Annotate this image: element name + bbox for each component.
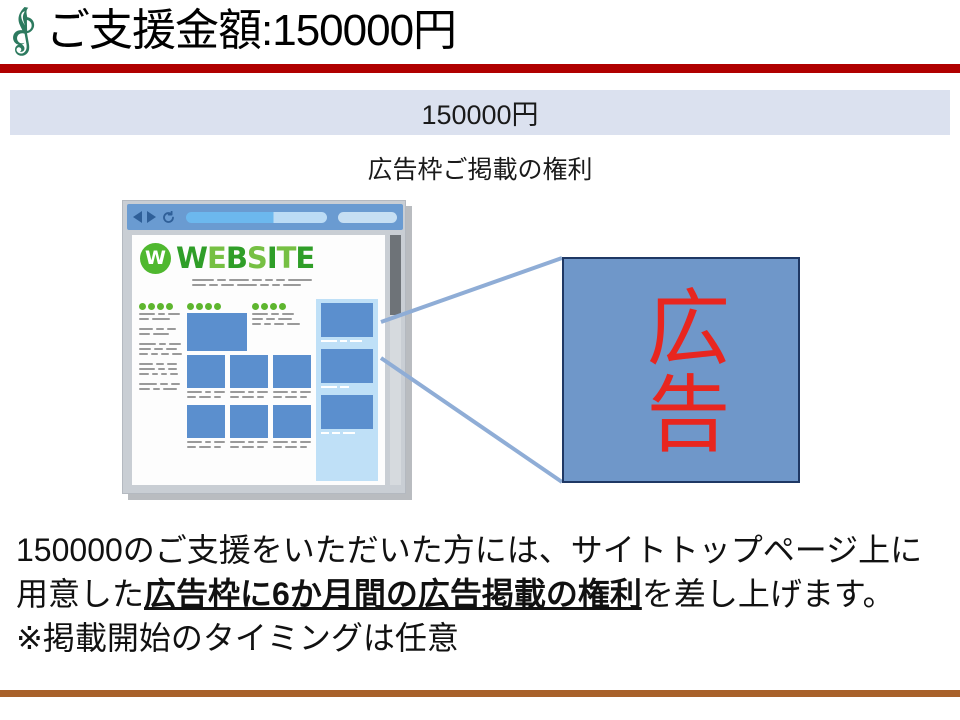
back-arrow-icon xyxy=(133,211,142,223)
thumbnail-grid-row xyxy=(187,355,311,401)
chip-row xyxy=(139,303,182,310)
page-main-column xyxy=(187,299,311,481)
site-logo-mark: W xyxy=(140,243,171,274)
page-left-text-column xyxy=(139,299,182,481)
treble-clef-icon xyxy=(0,0,46,62)
line2-suffix: を差し上げます。 xyxy=(642,576,895,612)
page-title: ご支援金額:150000円 xyxy=(46,9,456,53)
title-divider-rule xyxy=(0,64,960,73)
footer-divider-rule xyxy=(0,690,960,697)
content-thumbnail xyxy=(230,405,268,438)
content-thumbnail xyxy=(187,313,247,351)
ad-slot-2[interactable] xyxy=(321,349,373,383)
content-thumbnail xyxy=(273,355,311,388)
browser-toolbar xyxy=(127,204,403,230)
site-ad-sidebar xyxy=(316,299,378,481)
ad-slot-1[interactable] xyxy=(321,303,373,337)
line2-emphasis: 広告枠に6か月間の広告掲載の権利 xyxy=(144,576,642,612)
site-logo-text: WEBSITE xyxy=(176,241,314,275)
website-page-content: W WEBSITE xyxy=(132,235,385,485)
slide-header: ご支援金額:150000円 xyxy=(0,0,960,62)
scrollbar-thumb[interactable] xyxy=(390,235,401,315)
slide-canvas: ご支援金額:150000円 150000円 広告枠ご掲載の権利 xyxy=(0,0,960,720)
thumbnail-grid-row xyxy=(187,405,311,451)
reload-icon xyxy=(162,211,175,224)
amount-band-label: 150000円 xyxy=(421,93,538,132)
content-thumbnail xyxy=(230,355,268,388)
browser-scrollbar[interactable] xyxy=(390,235,401,485)
search-bar xyxy=(338,212,397,223)
ad-slot-3[interactable] xyxy=(321,395,373,429)
line2-prefix: 用意した xyxy=(16,576,144,612)
reward-description-line-1: 150000のご支援をいただいた方には、サイトトップページ上に xyxy=(16,528,960,572)
browser-window-mockup: W WEBSITE xyxy=(122,200,406,494)
content-thumbnail xyxy=(273,405,311,438)
amount-band: 150000円 xyxy=(10,90,950,135)
reward-description: 150000のご支援をいただいた方には、サイトトップページ上に 用意した広告枠に… xyxy=(16,528,960,660)
page-body-columns xyxy=(139,299,378,481)
reward-description-line-2: 用意した広告枠に6か月間の広告掲載の権利を差し上げます。 xyxy=(16,572,960,616)
reward-description-line-3: ※掲載開始のタイミングは任意 xyxy=(16,616,960,660)
ad-callout-box: 広告 xyxy=(562,257,800,483)
website-ad-slot-illustration: W WEBSITE xyxy=(122,200,412,500)
site-logo: W WEBSITE xyxy=(140,241,378,275)
ad-callout-label: 広告 xyxy=(641,284,721,456)
address-bar xyxy=(186,212,327,223)
content-thumbnail xyxy=(187,355,225,388)
headline-placeholder-lines xyxy=(192,279,342,289)
reward-subtitle: 広告枠ご掲載の権利 xyxy=(0,150,960,186)
content-thumbnail xyxy=(187,405,225,438)
forward-arrow-icon xyxy=(147,211,156,223)
